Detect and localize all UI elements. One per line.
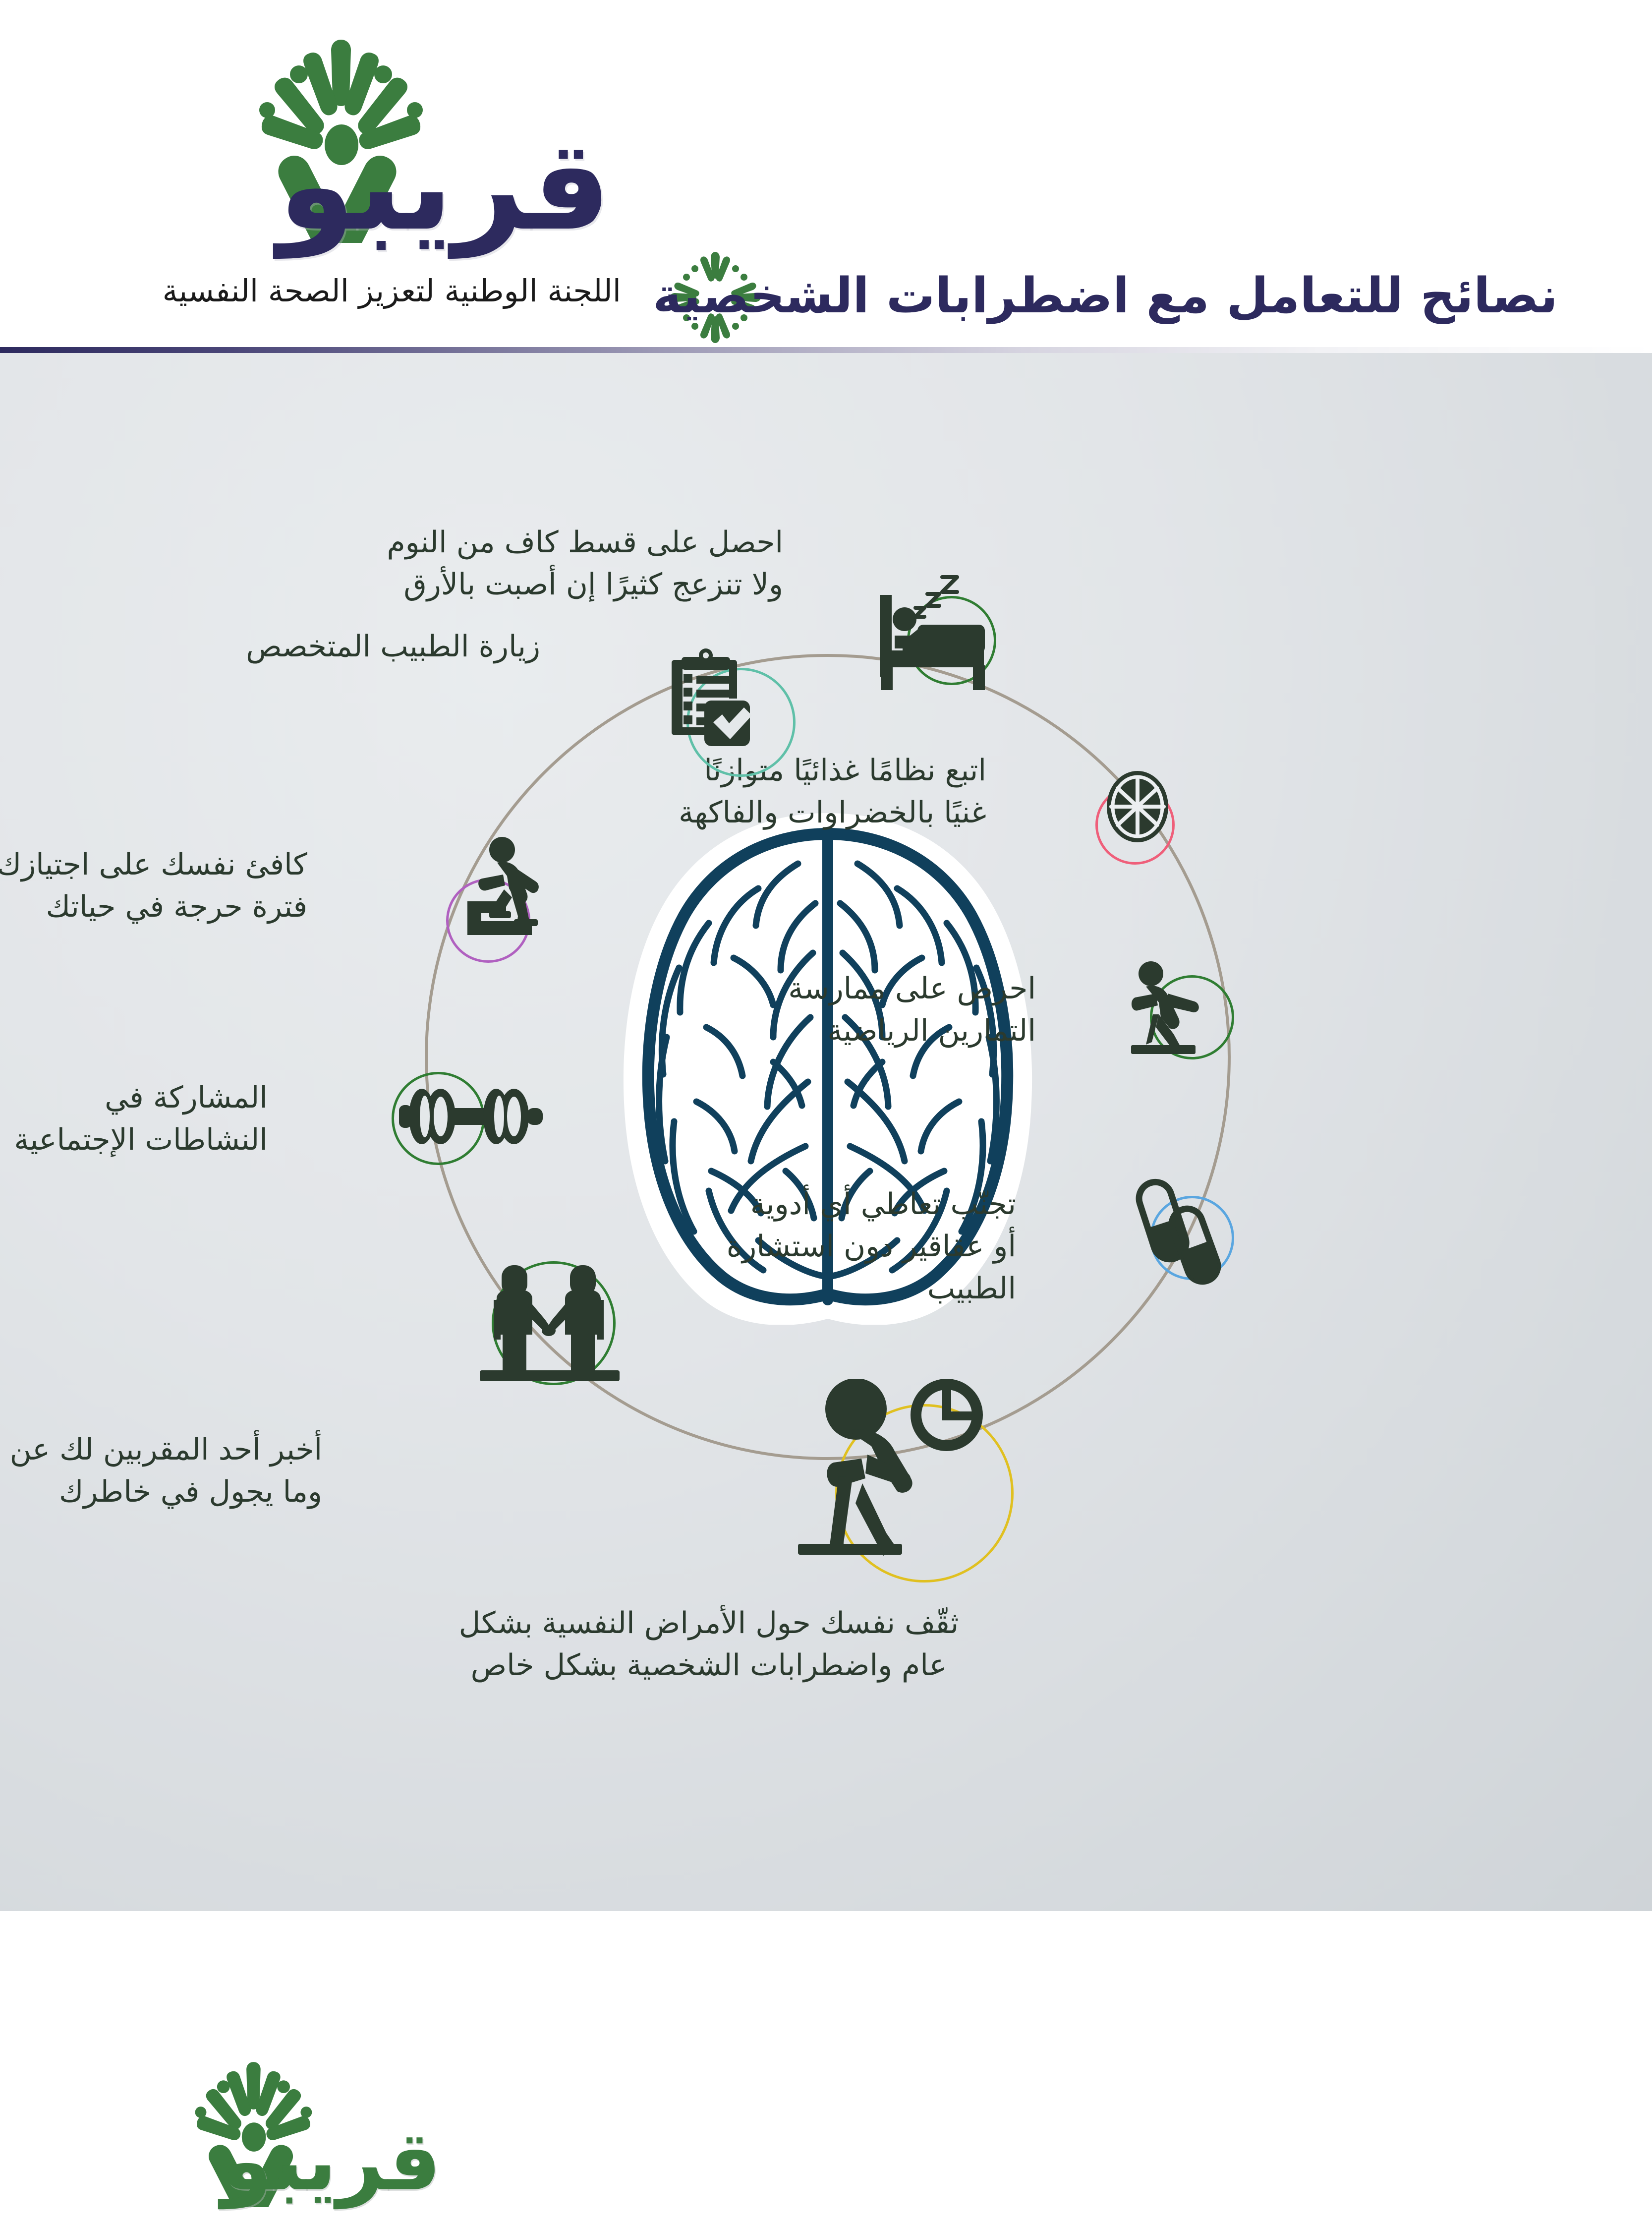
infographic-canvas: احصل على قسط كاف من النوم ولا تنزعج كثير… <box>0 353 1652 1911</box>
tip-share-text: أخبر أحد المقربين لك عن مشاعرك وما يجول … <box>0 1429 322 1513</box>
tip-medication-text: تجنّب تعاطي أي أدوية أو عقاقير دون استشا… <box>649 1183 1016 1310</box>
dumbbell-icon <box>399 1084 543 1149</box>
header-divider <box>0 347 1652 353</box>
tip-specialist-text: زيارة الطبيب المتخصص <box>164 626 540 668</box>
clipboard-check-icon <box>667 643 776 757</box>
tip-reward-text: كافئ نفسك على اجتيازك فترة حرجة في حياتك <box>0 844 307 928</box>
walking-person-clock-icon <box>798 1379 1006 1587</box>
tip-social-text: المشاركة في النشاطات الإجتماعية <box>0 1077 268 1161</box>
brand-wordmark: قريبو <box>278 124 611 248</box>
person-climbing-stairs-icon <box>444 824 558 948</box>
footer-brand-logo: قريبو <box>164 2063 441 2227</box>
brand-logo: قريبو اللجنة الوطنية لتعزيز الصحة النفسي… <box>115 59 611 288</box>
running-person-icon <box>1120 958 1229 1062</box>
two-people-holding-hands-icon <box>471 1240 629 1399</box>
pills-capsules-icon <box>1128 1176 1242 1290</box>
citrus-fruit-icon <box>1095 764 1180 849</box>
tip-exercise-text: احرص على ممارسة التمارين الرياضية <box>719 968 1036 1052</box>
page-header: قريبو اللجنة الوطنية لتعزيز الصحة النفسي… <box>0 0 1652 353</box>
page-title: نصائح للتعامل مع اضطرابات الشخصية <box>653 268 1558 324</box>
footer-brand-wordmark: قريبو <box>222 2120 441 2202</box>
tip-sleep-text: احصل على قسط كاف من النوم ولا تنزعج كثير… <box>208 522 783 606</box>
bed-sleeping-icon <box>870 571 1019 695</box>
brand-subtitle: اللجنة الوطنية لتعزيز الصحة النفسية <box>163 273 621 309</box>
tip-education-text: ثقّف نفسك حول الأمراض النفسية بشكل عام و… <box>436 1602 981 1687</box>
